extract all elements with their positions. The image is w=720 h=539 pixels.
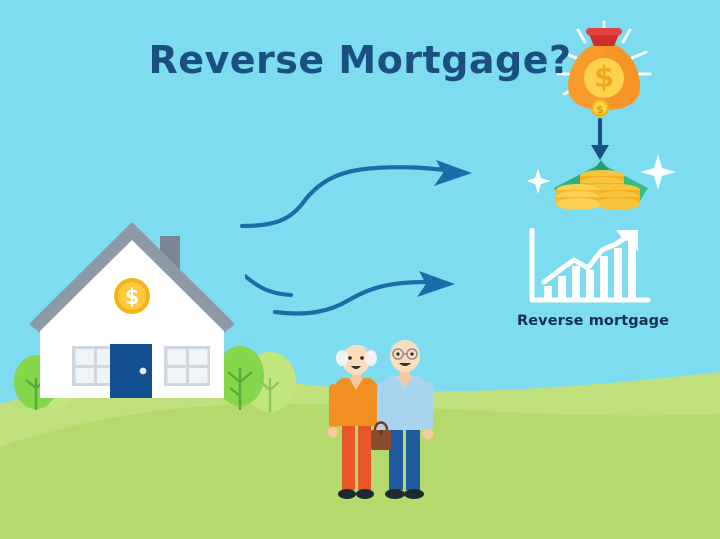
window-right-pane-3 — [168, 368, 187, 383]
chart-bar-4 — [586, 270, 594, 298]
growth-chart-icon — [520, 228, 660, 310]
woman-shoe-right — [356, 489, 374, 499]
woman-arm-left — [329, 384, 338, 428]
window-right-pane-4 — [189, 368, 208, 383]
man-eye-left — [396, 352, 399, 355]
chart-bar-1 — [544, 286, 552, 298]
man-eye-right — [410, 352, 413, 355]
woman-shoe-left — [338, 489, 356, 499]
woman-hair-left-curl — [336, 350, 348, 366]
chart-bar-7 — [628, 240, 636, 298]
cash-pile — [528, 140, 678, 220]
chart-caption: Reverse mortgage — [498, 313, 688, 329]
woman-hair-right-curl — [365, 350, 377, 366]
woman-eye-right — [360, 356, 364, 360]
man-leg-left — [389, 428, 403, 490]
flow-arrow-upper — [240, 160, 500, 230]
illustration-canvas: $ — [0, 0, 720, 539]
house-coin-symbol: $ — [125, 285, 140, 309]
falling-coin: $ — [588, 96, 612, 120]
coin-stack-right — [596, 184, 640, 210]
man-leg-right — [406, 428, 420, 490]
chart-bar-2 — [558, 276, 566, 298]
house: $ — [28, 218, 250, 404]
chart-bar-3 — [572, 266, 580, 298]
flow-arrow-upper-line — [242, 167, 446, 226]
money-bag-tie-knot — [586, 28, 622, 35]
elderly-man — [377, 340, 434, 499]
man-hand-right — [423, 429, 434, 440]
page-title: Reverse Mortgage? — [0, 38, 720, 82]
man-arm-right — [423, 382, 433, 430]
chart-bar-6 — [614, 248, 622, 298]
flow-arrow-lower — [245, 268, 495, 318]
flow-arrow-upper-head — [434, 160, 472, 186]
window-right-pane-2 — [189, 349, 208, 365]
coin-stack-left — [556, 184, 600, 210]
chart-bar-5 — [600, 256, 608, 298]
elderly-woman — [328, 345, 385, 499]
woman-hand-left — [328, 427, 339, 438]
window-left-pane-1 — [76, 349, 95, 365]
flow-arrow-lower-line — [275, 282, 427, 314]
man-shoe-left — [385, 489, 405, 499]
handbag-clasp — [379, 430, 383, 435]
door-knob — [140, 368, 147, 375]
window-left-pane-3 — [76, 368, 95, 383]
window-right-pane-1 — [168, 349, 187, 365]
woman-eye-left — [348, 356, 352, 360]
sparkle-right — [640, 154, 676, 190]
elderly-couple — [325, 334, 445, 506]
falling-coin-symbol: $ — [596, 103, 604, 116]
woman-leg-left — [342, 426, 355, 490]
man-shoe-right — [404, 489, 424, 499]
woman-leg-right — [358, 426, 371, 490]
flow-arrow-lower-tail — [245, 276, 291, 295]
sparkle-left — [528, 168, 551, 194]
man-face — [390, 340, 420, 372]
